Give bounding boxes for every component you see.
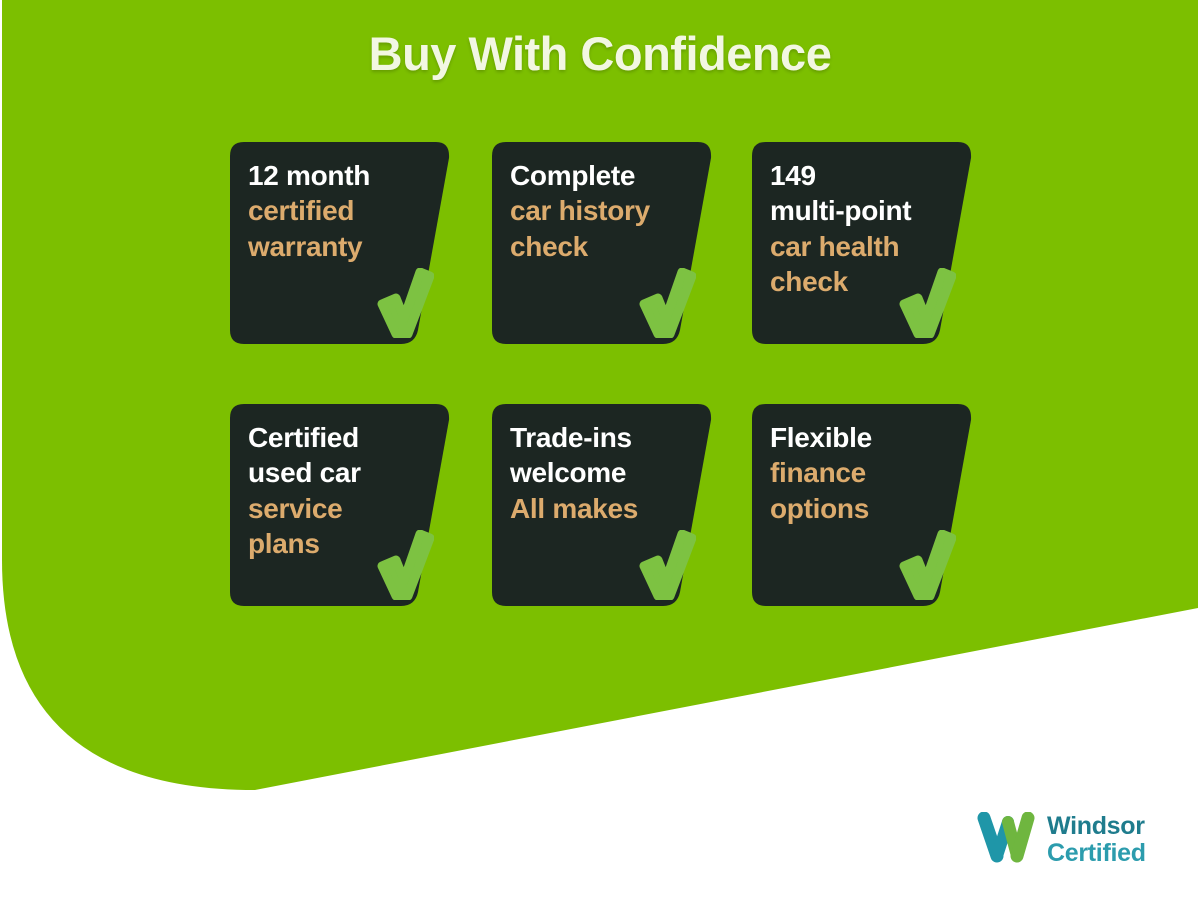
windsor-w-icon [975,812,1037,868]
logo-wordmark: Windsor Certified [1047,813,1146,867]
card-text: Trade-ins welcome All makes [510,420,700,526]
benefit-card[interactable]: 12 month certified warranty [228,140,452,346]
card-line: Complete [510,158,700,193]
check-tick-icon [638,530,696,600]
benefit-card[interactable]: Flexible finance options [750,402,974,608]
card-line: Flexible [770,420,960,455]
card-line: check [510,229,700,264]
check-tick-icon [898,530,956,600]
card-line: car health [770,229,960,264]
card-line: welcome [510,455,700,490]
card-line: options [770,491,960,526]
benefit-card[interactable]: Trade-ins welcome All makes [490,402,714,608]
check-tick-icon [376,268,434,338]
card-line: Trade-ins [510,420,700,455]
benefit-card[interactable]: 149 multi-point car health check [750,140,974,346]
card-line: 12 month [248,158,438,193]
card-line: Certified [248,420,438,455]
logo-line-certified: Certified [1047,840,1146,867]
card-text: Complete car history check [510,158,700,264]
card-line: All makes [510,491,700,526]
card-line: finance [770,455,960,490]
check-tick-icon [638,268,696,338]
benefit-card[interactable]: Certified used car service plans [228,402,452,608]
check-tick-icon [898,268,956,338]
windsor-certified-logo[interactable]: Windsor Certified [975,812,1146,868]
card-line: 149 [770,158,960,193]
page-title: Buy With Confidence [0,26,1200,81]
check-tick-icon [376,530,434,600]
card-line: service [248,491,438,526]
card-line: car history [510,193,700,228]
logo-line-windsor: Windsor [1047,813,1146,840]
benefit-card[interactable]: Complete car history check [490,140,714,346]
card-line: certified [248,193,438,228]
card-line: used car [248,455,438,490]
card-text: 12 month certified warranty [248,158,438,264]
card-line: warranty [248,229,438,264]
promo-banner: Buy With Confidence 12 month certified w… [0,0,1200,900]
card-text: Flexible finance options [770,420,960,526]
benefit-card-grid: 12 month certified warranty Complete car… [228,140,988,610]
card-line: multi-point [770,193,960,228]
